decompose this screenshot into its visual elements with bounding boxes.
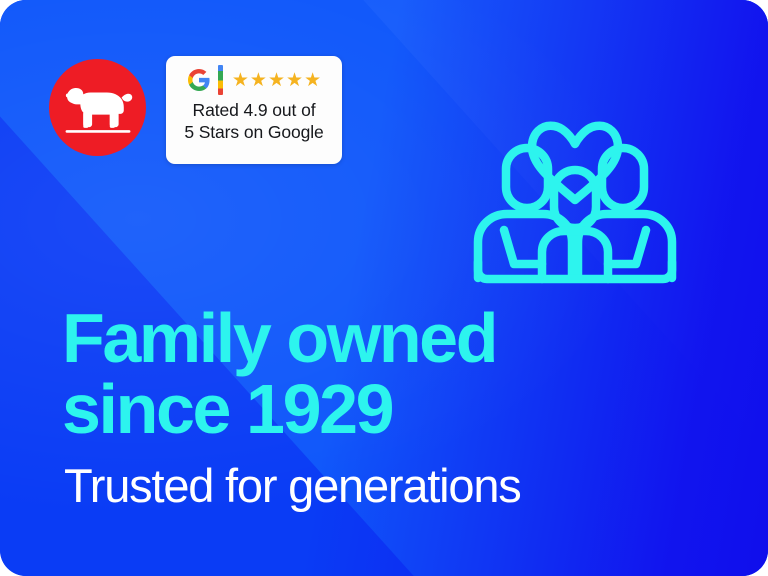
google-color-bar-icon xyxy=(218,65,223,95)
adult-left-head xyxy=(506,148,548,208)
badge-rating-row: ★ ★ ★ ★ ★ xyxy=(187,65,321,95)
star-icon: ★ xyxy=(232,71,249,90)
dog-logo xyxy=(49,59,146,156)
left-arm xyxy=(504,230,542,264)
dog-silhouette-icon xyxy=(61,80,135,136)
badge-rating-text: Rated 4.9 out of 5 Stars on Google xyxy=(178,99,329,143)
google-review-badge[interactable]: ★ ★ ★ ★ ★ Rated 4.9 out of 5 Stars on Go… xyxy=(166,56,342,164)
star-icon: ★ xyxy=(304,71,321,90)
star-icon: ★ xyxy=(286,71,303,90)
right-arm xyxy=(608,230,646,264)
google-g-icon xyxy=(187,68,211,92)
star-icon: ★ xyxy=(268,71,285,90)
star-icon: ★ xyxy=(250,71,267,90)
family-heart-icon xyxy=(470,62,680,288)
badge-text-line-2: 5 Stars on Google xyxy=(184,121,323,143)
promo-card: ★ ★ ★ ★ ★ Rated 4.9 out of 5 Stars on Go… xyxy=(0,0,768,576)
headline-line-1: Family owned xyxy=(62,303,722,374)
headline-line-2: since 1929 xyxy=(62,374,722,445)
headline: Family owned since 1929 xyxy=(62,303,722,445)
badge-text-line-1: Rated 4.9 out of xyxy=(184,99,323,121)
adult-right-head xyxy=(602,148,644,208)
star-rating: ★ ★ ★ ★ ★ xyxy=(232,71,321,90)
subtitle: Trusted for generations xyxy=(64,458,521,514)
